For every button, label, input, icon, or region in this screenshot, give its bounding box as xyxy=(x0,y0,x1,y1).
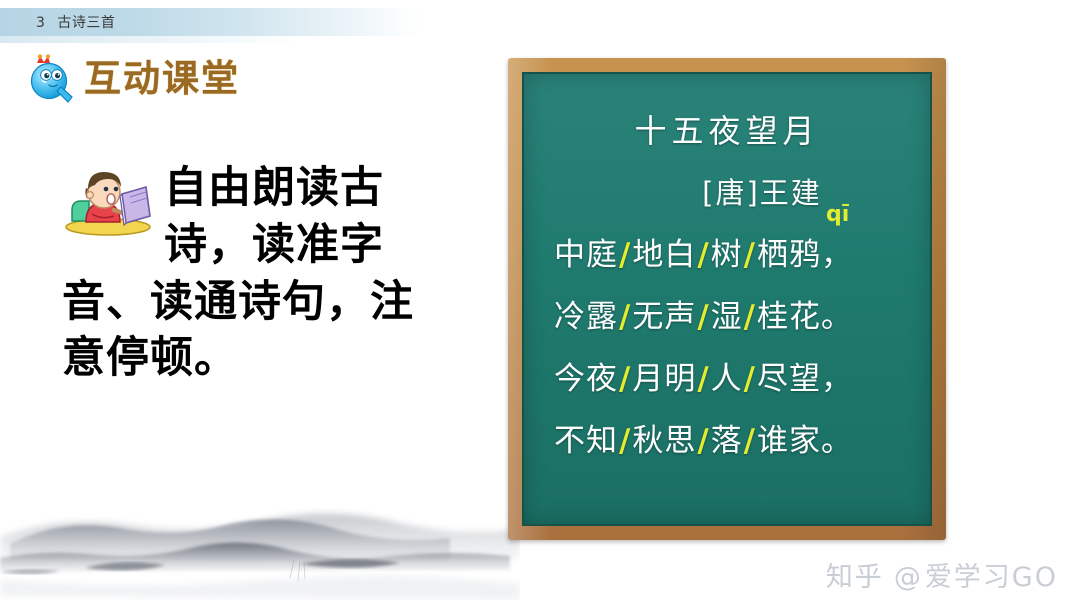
blackboard-surface: 十五夜望月 [唐]王建 qī 中庭/地白/树/栖鸦， 冷露/无声/湿/桂花。 今… xyxy=(522,72,932,526)
pinyin-annotation: qī xyxy=(826,202,849,227)
poem-line: 冷露/无声/湿/桂花。 xyxy=(554,291,916,336)
poem-segment: 月明 xyxy=(632,361,696,397)
segment-separator: / xyxy=(618,237,632,273)
poem-body: qī 中庭/地白/树/栖鸦， 冷露/无声/湿/桂花。 今夜/月明/人/尽望， 不… xyxy=(538,229,916,460)
segment-separator: / xyxy=(618,361,632,397)
segment-separator: / xyxy=(743,361,757,397)
ink-wash-mountain-landscape xyxy=(0,482,520,600)
poem-line: qī 中庭/地白/树/栖鸦， xyxy=(554,229,916,274)
watermark-site: 知乎 xyxy=(826,562,884,593)
segment-separator: / xyxy=(696,237,710,273)
segment-separator: / xyxy=(618,299,632,335)
lesson-number: 3 xyxy=(36,15,45,31)
lesson-title: 古诗三首 xyxy=(57,15,115,31)
boy-reading-book-icon xyxy=(62,170,158,236)
blackboard: 十五夜望月 [唐]王建 qī 中庭/地白/树/栖鸦， 冷露/无声/湿/桂花。 今… xyxy=(508,58,946,540)
blue-q-mascot-icon xyxy=(24,52,76,104)
watermark-user: 爱学习GO xyxy=(925,562,1058,593)
poem-segment: 树 xyxy=(711,237,743,273)
segment-separator: / xyxy=(743,423,757,459)
poem-segment: 桂花。 xyxy=(757,299,853,335)
poem-segment: 谁家。 xyxy=(757,423,853,459)
poem-segment: 冷露 xyxy=(554,299,618,335)
poem-segment: 不知 xyxy=(554,423,618,459)
poem-segment: 秋思 xyxy=(632,423,696,459)
poem-segment: 湿 xyxy=(711,299,743,335)
segment-separator: / xyxy=(743,237,757,273)
poem-title: 十五夜望月 xyxy=(538,106,916,152)
instruction-block: 自由朗读古诗，读准字音、读通诗句，注意停顿。 xyxy=(62,160,452,387)
segment-separator: / xyxy=(618,423,632,459)
watermark-at-sign: @ xyxy=(894,562,923,593)
segment-separator: / xyxy=(696,423,710,459)
segment-separator: / xyxy=(696,361,710,397)
poem-segment: 中庭 xyxy=(554,237,618,273)
poem-segment: 尽望， xyxy=(757,361,853,397)
watermark: 知乎@爱学习GO xyxy=(826,555,1058,594)
brand-header: 互动课堂 xyxy=(24,52,240,104)
breadcrumb: 3古诗三首 xyxy=(36,12,115,32)
poem-segment: 栖鸦， xyxy=(757,237,853,273)
poem-segment: 地白 xyxy=(632,237,696,273)
poem-segment: 落 xyxy=(711,423,743,459)
poem-line: 今夜/月明/人/尽望， xyxy=(554,353,916,398)
poem-line: 不知/秋思/落/谁家。 xyxy=(554,415,916,460)
poem-segment: 今夜 xyxy=(554,361,618,397)
poem-author: [唐]王建 xyxy=(538,170,916,212)
page-title: 互动课堂 xyxy=(84,60,240,97)
header-bar-underline xyxy=(0,36,300,43)
segment-separator: / xyxy=(696,299,710,335)
poem-segment: 人 xyxy=(711,361,743,397)
segment-separator: / xyxy=(743,299,757,335)
poem-segment: 无声 xyxy=(632,299,696,335)
